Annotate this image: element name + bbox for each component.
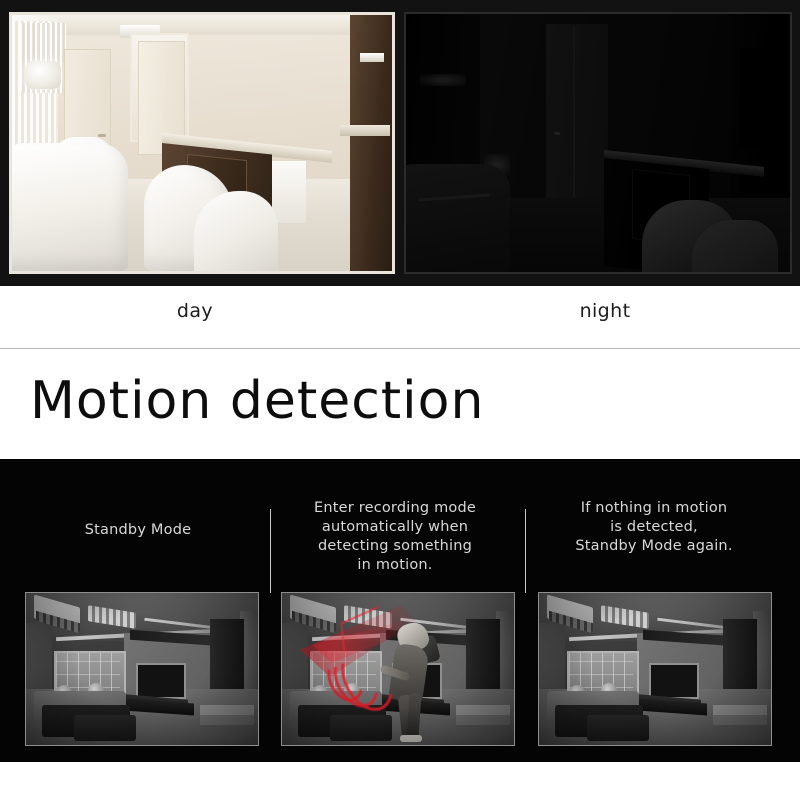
motion-detected-room-shot [281,592,515,746]
day-wall-shelf [360,53,384,62]
motion-detection-shots [0,589,800,749]
standby-room-shot [25,592,259,746]
day-caption: day [115,300,275,322]
night-camera-view [404,12,792,274]
day-chandelier-lamp [25,61,61,89]
motion-step-label-recording: Enter recording mode automatically when … [290,499,500,575]
motion-detection-section: Standby Mode Enter recording mode automa… [0,459,800,762]
night-wall-glow [420,74,466,86]
column-divider-2 [525,509,526,593]
motion-step-label-standby-again: If nothing in motion is detected, Standb… [548,499,760,556]
day-wall-shelf-lower [340,125,390,136]
night-door [546,24,608,214]
night-door-edge [573,26,575,212]
standby-again-room-shot [538,592,772,746]
night-door-knob [554,132,560,135]
page-title: Motion detection [30,371,484,431]
day-night-comparison-section [0,0,800,286]
column-divider-1 [270,509,271,593]
day-ceiling [12,15,392,35]
bottom-white-margin [0,762,800,800]
night-dark-panel [740,48,784,148]
room-scene [282,593,514,745]
room-vignette [26,593,258,745]
room-scene [539,593,771,745]
room-vignette [539,593,771,745]
motion-step-label-standby: Standby Mode [38,521,238,540]
day-chair-second [194,191,278,271]
day-sofa [12,143,128,271]
day-camera-view [9,12,395,274]
night-sofa [406,164,510,272]
motion-detection-captions: Standby Mode Enter recording mode automa… [0,481,800,581]
room-vignette [282,593,514,745]
day-room-scene [12,15,392,271]
room-scene [26,593,258,745]
night-room-scene [406,14,790,272]
headline-band: Motion detection [0,349,800,459]
night-caption: night [525,300,685,322]
day-night-caption-band: day night [0,286,800,348]
